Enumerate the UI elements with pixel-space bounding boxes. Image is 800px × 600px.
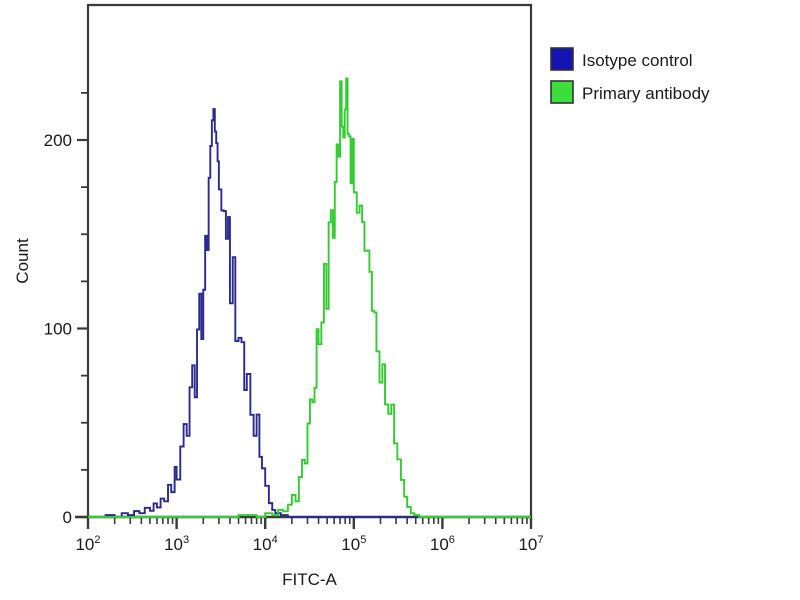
x-tick-exponent: 4 <box>272 534 278 546</box>
chart-canvas: 0100200 102103104105106107 Isotype contr… <box>0 0 800 600</box>
legend-swatch <box>551 81 573 103</box>
y-tick-label: 100 <box>44 320 72 339</box>
legend-label: Isotype control <box>582 51 693 70</box>
x-axis-title: FITC-A <box>282 570 337 589</box>
x-tick-exponent: 6 <box>449 534 455 546</box>
flow-cytometry-histogram: 0100200 102103104105106107 Isotype contr… <box>0 0 800 600</box>
legend-swatch <box>551 48 573 70</box>
y-axis-title: Count <box>13 238 32 284</box>
y-tick-label: 0 <box>63 508 72 527</box>
x-tick-exponent: 2 <box>94 534 100 546</box>
x-tick-exponent: 5 <box>360 534 366 546</box>
x-tick-exponent: 7 <box>537 534 543 546</box>
legend-label: Primary antibody <box>582 84 710 103</box>
y-tick-label: 200 <box>44 131 72 150</box>
x-tick-exponent: 3 <box>183 534 189 546</box>
